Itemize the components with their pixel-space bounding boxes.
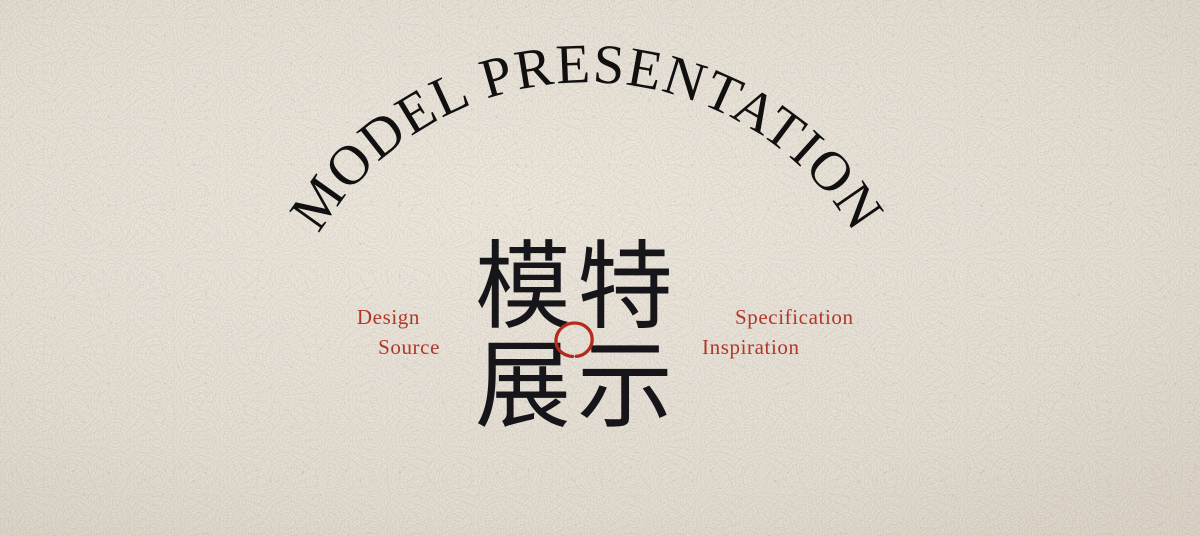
caption-left-line-2: Source xyxy=(240,332,440,362)
cjk-char-te: 特 xyxy=(574,238,676,337)
cjk-char-zhan: 展 xyxy=(472,337,574,436)
caption-left-line-1: Design xyxy=(240,302,440,332)
poster-canvas: MODEL PRESENTATION 模 特 展 示 Design Source… xyxy=(0,0,1200,536)
cjk-title-block: 模 特 展 示 xyxy=(472,238,676,436)
caption-left: Design Source xyxy=(240,302,440,362)
cjk-char-mo: 模 xyxy=(472,238,574,337)
caption-right-line-2: Inspiration xyxy=(702,332,942,362)
cjk-char-shi: 示 xyxy=(574,337,676,436)
caption-right-line-1: Specification xyxy=(702,302,942,332)
caption-right: Specification Inspiration xyxy=(702,302,942,362)
